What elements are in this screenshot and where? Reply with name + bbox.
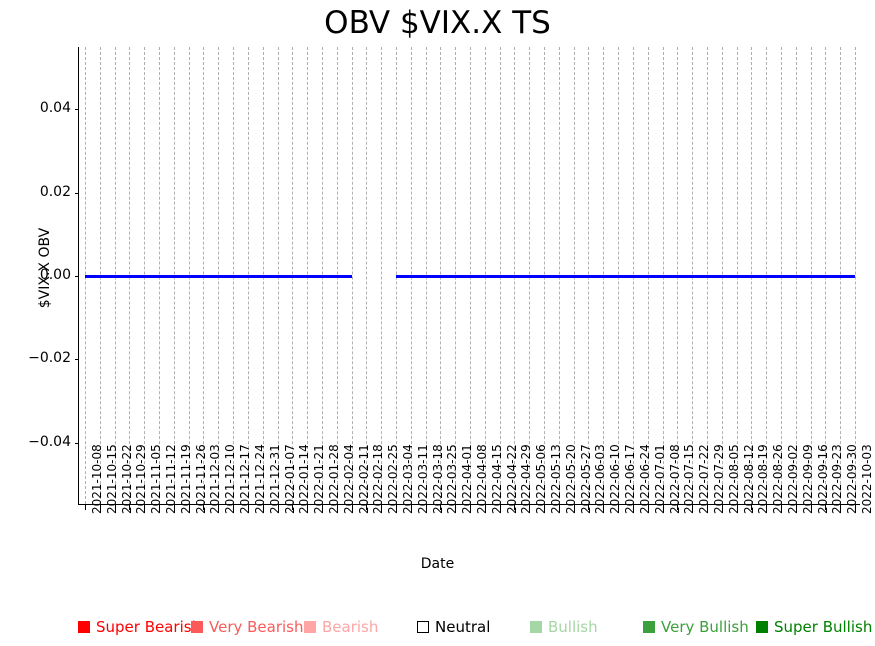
x-tick-label: 2021-10-15 (105, 444, 119, 514)
x-tick-mark (663, 505, 664, 510)
x-tick-mark (825, 505, 826, 510)
x-tick-label: 2021-10-29 (134, 444, 148, 514)
x-tick-mark (618, 505, 619, 510)
x-tick-mark (100, 505, 101, 510)
x-tick-label: 2022-06-24 (638, 444, 652, 514)
x-tick-label: 2022-04-29 (519, 444, 533, 514)
x-tick-label: 2021-11-12 (164, 444, 178, 514)
x-tick-mark (500, 505, 501, 510)
x-tick-mark (692, 505, 693, 510)
x-tick-label: 2022-01-07 (283, 444, 297, 514)
x-tick-label: 2021-12-10 (223, 444, 237, 514)
x-tick-mark (648, 505, 649, 510)
x-tick-label: 2022-02-25 (386, 444, 400, 514)
x-tick-label: 2021-10-08 (90, 444, 104, 514)
x-tick-mark (292, 505, 293, 510)
x-tick-mark (588, 505, 589, 510)
x-tick-mark (129, 505, 130, 510)
x-tick-mark (707, 505, 708, 510)
x-tick-mark (218, 505, 219, 510)
series-segment (396, 275, 855, 278)
x-tick-mark (470, 505, 471, 510)
x-tick-mark (381, 505, 382, 510)
x-tick-label: 2022-03-18 (431, 444, 445, 514)
legend-swatch-icon (643, 621, 655, 633)
x-tick-mark (855, 505, 856, 510)
x-tick-mark (529, 505, 530, 510)
legend-label: Super Bearish (96, 618, 201, 636)
chart-container: OBV $VIX.X TS 2022-10-03 $VIX.X OBV: 0.0… (0, 0, 875, 646)
x-tick-label: 2022-03-04 (401, 444, 415, 514)
x-tick-label: 2022-07-22 (697, 444, 711, 514)
x-tick-mark (811, 505, 812, 510)
x-tick-label: 2022-01-28 (327, 444, 341, 514)
x-tick-mark (440, 505, 441, 510)
legend-item-very-bearish[interactable]: Very Bearish (191, 618, 304, 636)
x-tick-mark (366, 505, 367, 510)
x-tick-mark (781, 505, 782, 510)
x-tick-label: 2022-09-02 (786, 444, 800, 514)
x-tick-mark (426, 505, 427, 510)
legend-item-neutral[interactable]: Neutral (417, 618, 490, 636)
x-tick-label: 2022-07-01 (653, 444, 667, 514)
y-tick-mark (75, 109, 79, 110)
legend-label: Bullish (548, 618, 598, 636)
x-tick-label: 2021-12-03 (208, 444, 222, 514)
x-tick-mark (144, 505, 145, 510)
y-tick-label: 0.04 (11, 100, 71, 116)
x-tick-label: 2022-09-23 (830, 444, 844, 514)
x-tick-label: 2022-02-04 (342, 444, 356, 514)
x-tick-mark (633, 505, 634, 510)
x-tick-label: 2021-11-05 (149, 444, 163, 514)
x-tick-mark (396, 505, 397, 510)
x-tick-mark (203, 505, 204, 510)
x-tick-label: 2021-12-31 (268, 444, 282, 514)
x-tick-mark (307, 505, 308, 510)
legend-item-super-bearish[interactable]: Super Bearish (78, 618, 201, 636)
x-tick-label: 2022-04-22 (505, 444, 519, 514)
x-tick-mark (411, 505, 412, 510)
x-tick-label: 2022-08-26 (771, 444, 785, 514)
x-tick-mark (737, 505, 738, 510)
chart-title: OBV $VIX.X TS (0, 5, 875, 41)
x-tick-label: 2021-12-17 (238, 444, 252, 514)
x-tick-mark (115, 505, 116, 510)
x-tick-mark (766, 505, 767, 510)
x-tick-label: 2022-04-15 (490, 444, 504, 514)
x-tick-label: 2022-07-15 (682, 444, 696, 514)
x-tick-label: 2022-08-19 (756, 444, 770, 514)
data-series-line (79, 47, 860, 504)
legend-swatch-icon (191, 621, 203, 633)
legend-label: Very Bullish (661, 618, 749, 636)
x-tick-mark (233, 505, 234, 510)
x-axis-label: Date (0, 556, 875, 572)
legend-item-bearish[interactable]: Bearish (304, 618, 378, 636)
x-tick-label: 2021-10-22 (120, 444, 134, 514)
y-tick-mark (75, 193, 79, 194)
y-tick-mark (75, 276, 79, 277)
x-tick-mark (189, 505, 190, 510)
x-tick-label: 2022-07-08 (668, 444, 682, 514)
x-tick-label: 2022-02-18 (371, 444, 385, 514)
x-tick-mark (278, 505, 279, 510)
legend-swatch-icon (304, 621, 316, 633)
legend-swatch-icon (756, 621, 768, 633)
series-segment (85, 275, 352, 278)
plot-area: 0.040.020.00−0.02−0.04 2021-10-082021-10… (78, 47, 860, 505)
x-tick-label: 2022-10-03 (860, 444, 874, 514)
x-tick-mark (722, 505, 723, 510)
legend-swatch-icon (530, 621, 542, 633)
x-tick-label: 2022-06-10 (608, 444, 622, 514)
x-tick-label: 2022-09-16 (816, 444, 830, 514)
x-tick-mark (574, 505, 575, 510)
x-tick-label: 2022-07-29 (712, 444, 726, 514)
x-tick-label: 2022-05-20 (564, 444, 578, 514)
x-tick-label: 2022-05-27 (579, 444, 593, 514)
legend-item-very-bullish[interactable]: Very Bullish (643, 618, 749, 636)
x-tick-label: 2022-05-13 (549, 444, 563, 514)
x-tick-label: 2022-04-01 (460, 444, 474, 514)
x-tick-label: 2022-03-25 (445, 444, 459, 514)
x-tick-label: 2022-06-03 (593, 444, 607, 514)
x-tick-label: 2022-09-30 (845, 444, 859, 514)
x-tick-label: 2022-06-17 (623, 444, 637, 514)
legend: Super BearishVery BearishBearishNeutralB… (0, 618, 875, 642)
x-tick-mark (796, 505, 797, 510)
x-tick-label: 2022-08-05 (727, 444, 741, 514)
x-tick-mark (544, 505, 545, 510)
legend-swatch-icon (417, 621, 429, 633)
x-tick-mark (174, 505, 175, 510)
x-tick-label: 2022-02-11 (357, 444, 371, 514)
x-tick-mark (85, 505, 86, 510)
legend-swatch-icon (78, 621, 90, 633)
x-tick-mark (603, 505, 604, 510)
x-tick-mark (514, 505, 515, 510)
legend-label: Super Bullish (774, 618, 872, 636)
x-tick-mark (352, 505, 353, 510)
x-tick-mark (322, 505, 323, 510)
x-tick-mark (248, 505, 249, 510)
legend-item-super-bullish[interactable]: Super Bullish (756, 618, 872, 636)
x-tick-mark (485, 505, 486, 510)
y-axis-label: $VIX.X OBV (37, 168, 53, 368)
x-tick-label: 2021-12-24 (253, 444, 267, 514)
x-tick-label: 2021-11-26 (194, 444, 208, 514)
y-tick-mark (75, 359, 79, 360)
x-tick-label: 2022-04-08 (475, 444, 489, 514)
x-tick-mark (840, 505, 841, 510)
legend-item-bullish[interactable]: Bullish (530, 618, 598, 636)
x-tick-mark (337, 505, 338, 510)
legend-label: Bearish (322, 618, 378, 636)
x-tick-label: 2022-05-06 (534, 444, 548, 514)
x-tick-label: 2022-01-21 (312, 444, 326, 514)
x-tick-label: 2022-03-11 (416, 444, 430, 514)
x-tick-label: 2022-09-09 (801, 444, 815, 514)
x-tick-mark (677, 505, 678, 510)
x-tick-label: 2021-11-19 (179, 444, 193, 514)
legend-label: Very Bearish (209, 618, 304, 636)
x-tick-mark (263, 505, 264, 510)
x-tick-mark (159, 505, 160, 510)
y-tick-mark (75, 443, 79, 444)
x-tick-mark (455, 505, 456, 510)
legend-label: Neutral (435, 618, 490, 636)
x-tick-label: 2022-08-12 (742, 444, 756, 514)
y-tick-label: −0.04 (11, 434, 71, 450)
x-tick-mark (559, 505, 560, 510)
x-tick-label: 2022-01-14 (297, 444, 311, 514)
x-tick-mark (751, 505, 752, 510)
